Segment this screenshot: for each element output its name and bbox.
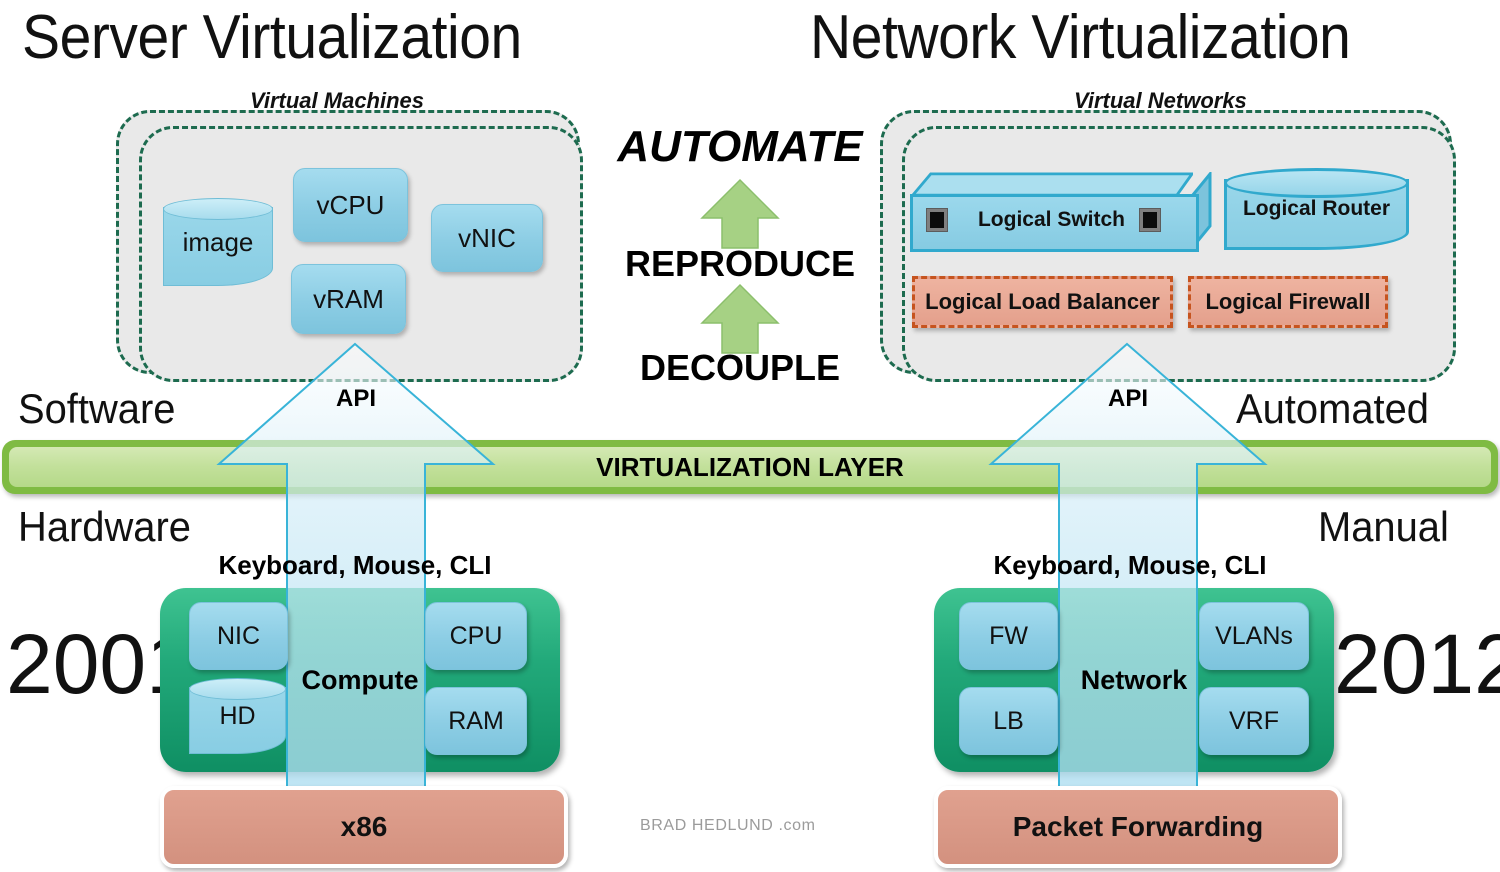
vm-image-cylinder[interactable]: image <box>163 198 273 286</box>
center-word-decouple: DECOUPLE <box>575 347 905 389</box>
vm-image-label: image <box>163 198 273 286</box>
logical-router-label: Logical Router <box>1224 168 1409 250</box>
compute-center-label: Compute <box>160 588 560 772</box>
logical-switch[interactable]: Logical Switch <box>910 172 1210 250</box>
center-word-automate: AUTOMATE <box>575 122 905 172</box>
year-right: 2012 <box>1334 616 1500 713</box>
center-word-reproduce: REPRODUCE <box>575 243 905 285</box>
switch-port-right-icon <box>1139 208 1161 232</box>
vm-vnic-chip[interactable]: vNIC <box>431 204 543 272</box>
virtualization-layer-label: VIRTUALIZATION LAYER <box>0 440 1500 494</box>
green-arrow-lower-icon <box>700 283 780 355</box>
vm-vnic-label: vNIC <box>458 223 516 254</box>
page-title-server-virtualization: Server Virtualization <box>22 2 522 73</box>
interface-label-left: Keyboard, Mouse, CLI <box>130 550 580 581</box>
label-manual: Manual <box>1318 503 1449 551</box>
vm-vram-label: vRAM <box>313 284 384 315</box>
logical-firewall-label: Logical Firewall <box>1205 289 1370 315</box>
vm-vcpu-label: vCPU <box>317 190 385 221</box>
logical-load-balancer-label: Logical Load Balancer <box>925 289 1160 315</box>
vm-vram-chip[interactable]: vRAM <box>291 264 406 334</box>
network-center-label: Network <box>934 588 1334 772</box>
packet-forwarding-foundation-bar[interactable]: Packet Forwarding <box>934 786 1342 868</box>
api-label-left: API <box>216 385 496 413</box>
x86-foundation-label: x86 <box>341 811 388 843</box>
logical-firewall[interactable]: Logical Firewall <box>1188 276 1388 328</box>
logical-router-cylinder[interactable]: Logical Router <box>1224 168 1409 250</box>
x86-foundation-bar[interactable]: x86 <box>160 786 568 868</box>
watermark: BRAD HEDLUND .com <box>640 817 816 835</box>
interface-label-right: Keyboard, Mouse, CLI <box>905 550 1355 581</box>
green-arrow-upper-icon <box>700 178 780 250</box>
logical-load-balancer[interactable]: Logical Load Balancer <box>912 276 1173 328</box>
logical-switch-3d-top <box>910 172 1193 196</box>
vm-vcpu-chip[interactable]: vCPU <box>293 168 408 242</box>
api-label-right: API <box>988 385 1268 413</box>
packet-forwarding-foundation-label: Packet Forwarding <box>1013 811 1264 843</box>
page-title-network-virtualization: Network Virtualization <box>810 2 1350 73</box>
label-software: Software <box>18 385 175 433</box>
switch-port-left-icon <box>926 208 948 232</box>
label-hardware: Hardware <box>18 503 191 551</box>
